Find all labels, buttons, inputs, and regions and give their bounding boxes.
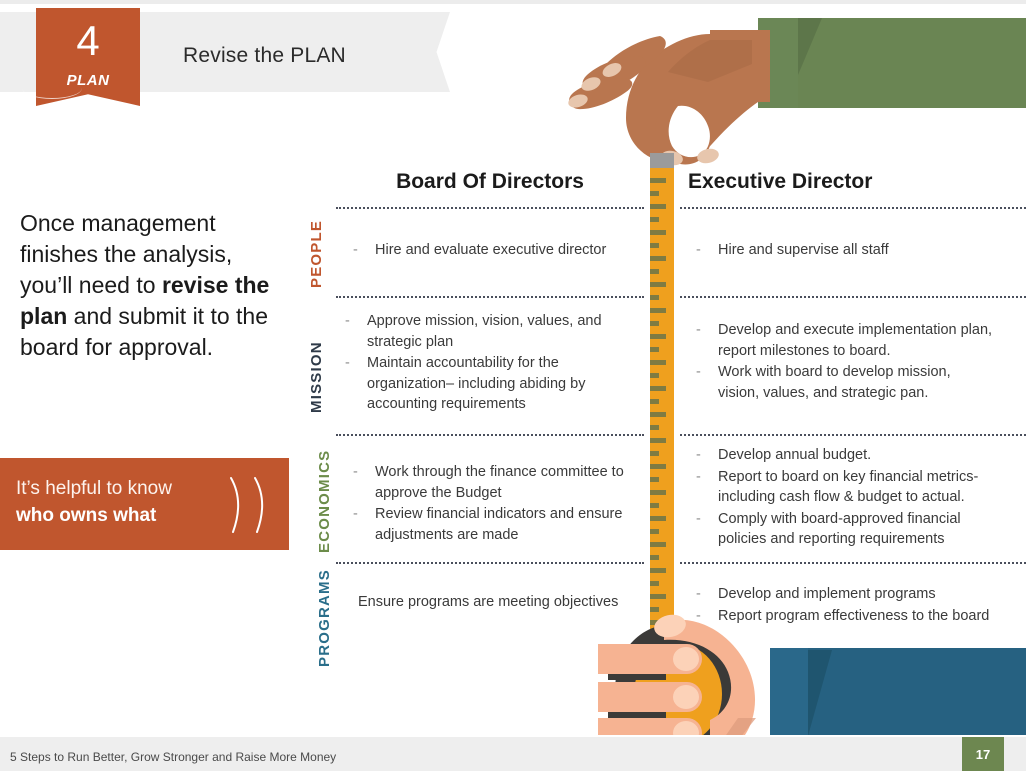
bullet-dash-icon: -	[353, 504, 358, 525]
cell-economics-board: - Work through the finance committee to …	[345, 462, 635, 546]
callout-box: It’s helpful to know who owns what	[0, 458, 289, 550]
cell-mission-board: - Approve mission, vision, values, and s…	[337, 311, 627, 416]
ruler-tick	[650, 217, 659, 222]
bullet-dash-icon: -	[696, 240, 701, 261]
page-number: 17	[962, 747, 1004, 762]
callout-line-1: It’s helpful to know	[16, 478, 172, 500]
bullet-dash-icon: -	[353, 240, 358, 261]
list-item-text: Maintain accountability for the organiza…	[367, 355, 585, 412]
bullet-dash-icon: -	[696, 362, 701, 383]
slide-canvas: Revise the PLAN 4 PLAN	[0, 0, 1026, 771]
ruler-tick	[650, 438, 666, 443]
ruler-tick	[650, 542, 666, 547]
ruler-tick	[650, 555, 659, 560]
row-divider	[336, 562, 644, 564]
list-item-text: Review financial indicators and ensure a…	[375, 506, 622, 543]
list-item: - Work with board to develop mission, vi…	[688, 362, 993, 403]
ruler-tick	[650, 347, 659, 352]
ruler-tick	[650, 529, 659, 534]
bullet-dash-icon: -	[696, 445, 701, 466]
yellow-ruler-pencil-icon	[650, 168, 674, 638]
row-divider	[680, 207, 1026, 209]
step-badge-number: 4	[36, 20, 140, 62]
ruler-tick	[650, 308, 666, 313]
list-item-text: Hire and evaluate executive director	[375, 242, 606, 258]
ruler-tick	[650, 191, 659, 196]
step-badge-label: PLAN	[36, 72, 140, 89]
page-title: Revise the PLAN	[183, 44, 346, 68]
list-item: - Develop and execute implementation pla…	[688, 320, 993, 361]
column-header-board-of-directors: Board Of Directors	[336, 170, 644, 194]
footer-divider	[0, 735, 1026, 737]
list-item-text: Comply with board-approved financial pol…	[718, 511, 961, 548]
ruler-tick	[650, 464, 666, 469]
ruler-tick	[650, 399, 659, 404]
list-item: - Hire and evaluate executive director	[345, 240, 640, 261]
bullet-dash-icon: -	[696, 467, 701, 488]
row-divider	[336, 296, 644, 298]
footer-text: 5 Steps to Run Better, Grow Stronger and…	[10, 750, 336, 764]
column-header-executive-director: Executive Director	[688, 170, 1026, 194]
ruler-tick	[650, 295, 659, 300]
ruler-metal-ferrule-icon	[650, 153, 674, 169]
list-item: - Comply with board-approved financial p…	[688, 509, 1008, 550]
cell-people-board: - Hire and evaluate executive director	[345, 240, 640, 262]
list-item-text: Report to board on key financial metrics…	[718, 469, 978, 506]
ruler-tick	[650, 594, 666, 599]
list-item-text: Develop annual budget.	[718, 447, 871, 463]
list-item: - Develop and implement programs	[688, 584, 1018, 605]
row-label-programs: PROGRAMS	[316, 568, 333, 668]
list-item: - Maintain accountability for the organi…	[337, 353, 627, 415]
cell-mission-exec: - Develop and execute implementation pla…	[688, 320, 993, 404]
row-divider	[680, 296, 1026, 298]
bullet-dash-icon: -	[345, 353, 350, 374]
row-label-people: PEOPLE	[308, 218, 325, 290]
row-divider	[336, 434, 644, 436]
ruler-tick	[650, 230, 666, 235]
bullet-dash-icon: -	[353, 462, 358, 483]
ruler-tick	[650, 178, 666, 183]
header-band-ribbon-tail	[420, 12, 450, 92]
double-chevron-right-icon	[252, 476, 268, 534]
ruler-tick	[650, 477, 659, 482]
list-item-text: Approve mission, vision, values, and str…	[367, 313, 602, 350]
ruler-tick	[650, 568, 666, 573]
list-item-text: Develop and implement programs	[718, 586, 936, 602]
ruler-tick	[650, 451, 659, 456]
callout-line-2: who owns what	[16, 505, 156, 527]
bullet-dash-icon: -	[345, 311, 350, 332]
list-item: - Approve mission, vision, values, and s…	[337, 311, 627, 352]
ruler-tick	[650, 321, 659, 326]
bullet-dash-icon: -	[696, 320, 701, 341]
list-item: - Work through the finance committee to …	[345, 462, 635, 503]
cell-people-exec: - Hire and supervise all staff	[688, 240, 1018, 262]
double-chevron-right-icon	[228, 476, 244, 534]
ruler-tick	[650, 412, 666, 417]
row-divider	[680, 562, 1026, 564]
cell-economics-exec: - Develop annual budget. - Report to boa…	[688, 445, 1008, 551]
ruler-tick	[650, 516, 666, 521]
list-item-text: Work with board to develop mission, visi…	[718, 364, 951, 401]
row-divider	[680, 434, 1026, 436]
list-item-text: Work through the finance committee to ap…	[375, 464, 624, 501]
ruler-tick	[650, 360, 666, 365]
ruler-tick	[650, 373, 659, 378]
intro-paragraph: Once management finishes the analysis, y…	[20, 208, 288, 363]
bullet-dash-icon: -	[696, 584, 701, 605]
ruler-tick	[650, 334, 666, 339]
ruler-tick	[650, 243, 659, 248]
ruler-tick	[650, 425, 659, 430]
ruler-tick	[650, 269, 659, 274]
row-label-economics: ECONOMICS	[316, 446, 333, 556]
list-item: - Develop annual budget.	[688, 445, 1008, 466]
ruler-tick	[650, 282, 666, 287]
ruler-tick	[650, 204, 666, 209]
ruler-tick	[650, 503, 659, 508]
list-item-text: Develop and execute implementation plan,…	[718, 322, 992, 359]
row-divider	[336, 207, 644, 209]
ruler-tick	[650, 256, 666, 261]
list-item-text: Hire and supervise all staff	[718, 242, 889, 258]
row-label-mission: MISSION	[308, 332, 325, 422]
list-item: - Report to board on key financial metri…	[688, 467, 1008, 508]
list-item: - Review financial indicators and ensure…	[345, 504, 635, 545]
ruler-tick	[650, 386, 666, 391]
page-number-box: 17	[962, 737, 1004, 771]
hand-holding-ruler-icon	[560, 0, 1026, 175]
bullet-dash-icon: -	[696, 509, 701, 530]
ruler-tick	[650, 490, 666, 495]
list-item: - Hire and supervise all staff	[688, 240, 1018, 261]
ruler-tick	[650, 581, 659, 586]
